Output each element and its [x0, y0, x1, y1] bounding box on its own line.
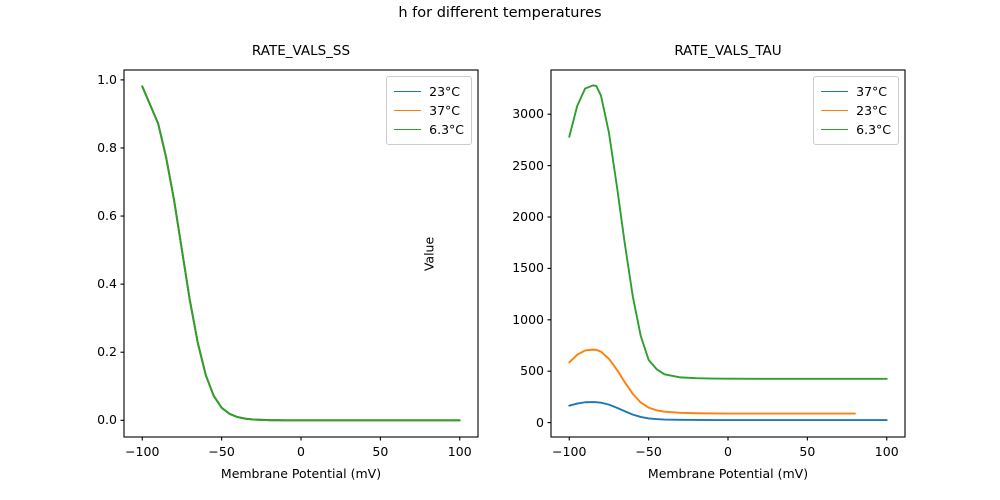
legend-rate-vals-tau[interactable]: 37°C23°C6.3°C — [813, 76, 899, 145]
y-tick-label: 500 — [464, 363, 544, 378]
legend-label: 6.3°C — [429, 122, 464, 137]
legend-item-63C[interactable]: 6.3°C — [821, 120, 891, 139]
legend-label: 23°C — [429, 84, 460, 99]
legend-item-37C[interactable]: 37°C — [821, 82, 891, 101]
axes-title-rate-vals-tau: RATE_VALS_TAU — [551, 43, 905, 59]
legend-item-37C[interactable]: 37°C — [394, 101, 464, 120]
x-tick-label: 50 — [340, 444, 420, 459]
axes-title-rate-vals-ss: RATE_VALS_SS — [124, 43, 478, 59]
x-tick-label: 50 — [767, 444, 847, 459]
legend-item-63C[interactable]: 6.3°C — [394, 120, 464, 139]
x-tick-label: 100 — [420, 444, 500, 459]
legend-label: 37°C — [856, 84, 887, 99]
series-line-23C — [569, 350, 855, 414]
y-tick-label: 0 — [464, 415, 544, 430]
x-tick-label: −50 — [182, 444, 262, 459]
matplotlib-figure: h for different temperatures RATE_VALS_S… — [0, 0, 1000, 500]
y-tick-label: 0.4 — [37, 276, 117, 291]
legend-swatch-icon — [394, 129, 421, 130]
legend-swatch-icon — [821, 129, 848, 130]
figure-suptitle: h for different temperatures — [0, 5, 1000, 21]
x-axis-label-rate-vals-tau: Membrane Potential (mV) — [551, 466, 905, 481]
series-line-37C — [569, 402, 886, 420]
y-tick-label: 2000 — [464, 209, 544, 224]
legend-swatch-icon — [394, 91, 421, 92]
y-tick-label: 0.6 — [37, 208, 117, 223]
x-tick-label: 0 — [261, 444, 341, 459]
y-tick-label: 1500 — [464, 260, 544, 275]
y-tick-label: 3000 — [464, 106, 544, 121]
y-tick-label: 0.2 — [37, 344, 117, 359]
x-tick-label: −50 — [609, 444, 689, 459]
y-tick-label: 0.8 — [37, 140, 117, 155]
legend-rate-vals-ss[interactable]: 23°C37°C6.3°C — [386, 76, 472, 145]
y-tick-label: 0.0 — [37, 412, 117, 427]
x-axis-label-rate-vals-ss: Membrane Potential (mV) — [124, 466, 478, 481]
y-tick-label: 2500 — [464, 158, 544, 173]
x-tick-label: −100 — [102, 444, 182, 459]
y-tick-label: 1000 — [464, 312, 544, 327]
y-axis-label-rate-vals-tau: Value — [422, 194, 437, 314]
legend-swatch-icon — [821, 91, 848, 92]
legend-label: 6.3°C — [856, 122, 891, 137]
x-tick-label: −100 — [529, 444, 609, 459]
legend-item-23C[interactable]: 23°C — [394, 82, 464, 101]
x-tick-label: 100 — [847, 444, 927, 459]
y-tick-label: 1.0 — [37, 72, 117, 87]
legend-label: 23°C — [856, 103, 887, 118]
legend-swatch-icon — [394, 110, 421, 111]
legend-swatch-icon — [821, 110, 848, 111]
legend-item-23C[interactable]: 23°C — [821, 101, 891, 120]
x-tick-label: 0 — [688, 444, 768, 459]
legend-label: 37°C — [429, 103, 460, 118]
